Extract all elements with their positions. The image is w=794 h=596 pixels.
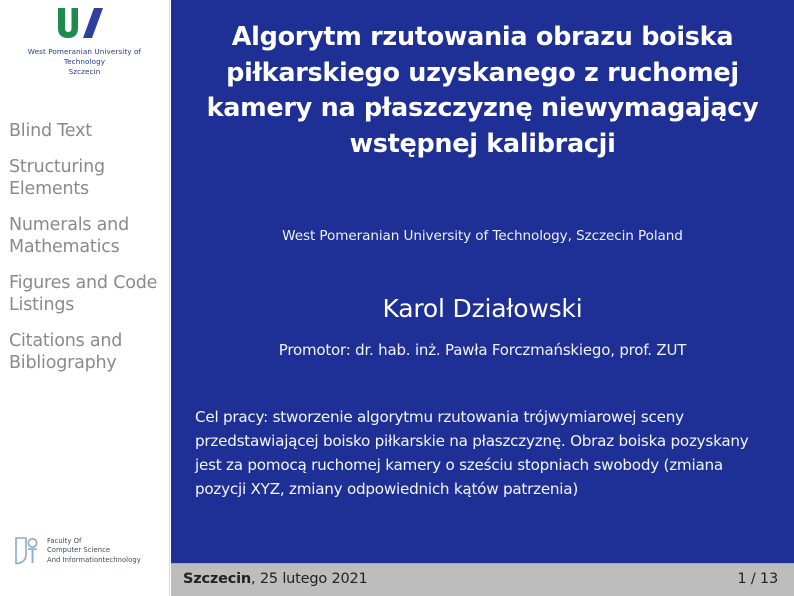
university-logo-line1: West Pomeranian University of Technology bbox=[28, 47, 141, 66]
slide-content-area: Algorytm rzutowania obrazu boiska piłkar… bbox=[171, 0, 794, 596]
faculty-logo-line1: Faculty Of bbox=[47, 537, 141, 546]
footer-location-date: Szczecin, 25 lutego 2021 bbox=[183, 571, 368, 587]
sidebar-item-numerals-and-mathematics[interactable]: Numerals and Mathematics bbox=[9, 214, 159, 258]
sidebar-item-figures-and-code-listings[interactable]: Figures and Code Listings bbox=[9, 272, 159, 316]
institution-line: West Pomeranian University of Technology… bbox=[193, 228, 772, 244]
university-logo-line2: Szczecin bbox=[6, 67, 163, 77]
wput-logo-icon bbox=[55, 6, 115, 42]
sidebar-item-citations-and-bibliography[interactable]: Citations and Bibliography bbox=[9, 330, 159, 374]
supervisor-line: Promotor: dr. hab. inż. Pawła Forczmańsk… bbox=[193, 341, 772, 359]
sidebar-navigation: Blind Text Structuring Elements Numerals… bbox=[0, 120, 169, 388]
page-indicator: 1 / 13 bbox=[737, 571, 778, 587]
footer-separator: , bbox=[251, 571, 260, 587]
footer-date: 25 lutego 2021 bbox=[260, 571, 368, 587]
presentation-slide: West Pomeranian University of Technology… bbox=[0, 0, 794, 596]
faculty-logo-line3: And Informationtechnology bbox=[47, 556, 141, 565]
faculty-logo: Faculty Of Computer Science And Informat… bbox=[14, 536, 164, 566]
author-name: Karol Działowski bbox=[193, 294, 772, 323]
university-logo: West Pomeranian University of Technology… bbox=[0, 6, 169, 77]
sidebar-item-blind-text[interactable]: Blind Text bbox=[9, 120, 159, 142]
page-title: Algorytm rzutowania obrazu boiska piłkar… bbox=[193, 20, 772, 162]
footer-location: Szczecin bbox=[183, 571, 251, 587]
sidebar-item-structuring-elements[interactable]: Structuring Elements bbox=[9, 156, 159, 200]
faculty-logo-line2: Computer Science bbox=[47, 546, 141, 555]
sidebar: West Pomeranian University of Technology… bbox=[0, 0, 170, 596]
university-logo-text: West Pomeranian University of Technology… bbox=[0, 47, 169, 77]
abstract-paragraph: Cel pracy: stworzenie algorytmu rzutowan… bbox=[195, 405, 761, 501]
slide-footer: Szczecin, 25 lutego 2021 1 / 13 bbox=[171, 563, 794, 596]
faculty-logo-text: Faculty Of Computer Science And Informat… bbox=[47, 537, 141, 565]
faculty-shield-icon bbox=[14, 536, 40, 566]
